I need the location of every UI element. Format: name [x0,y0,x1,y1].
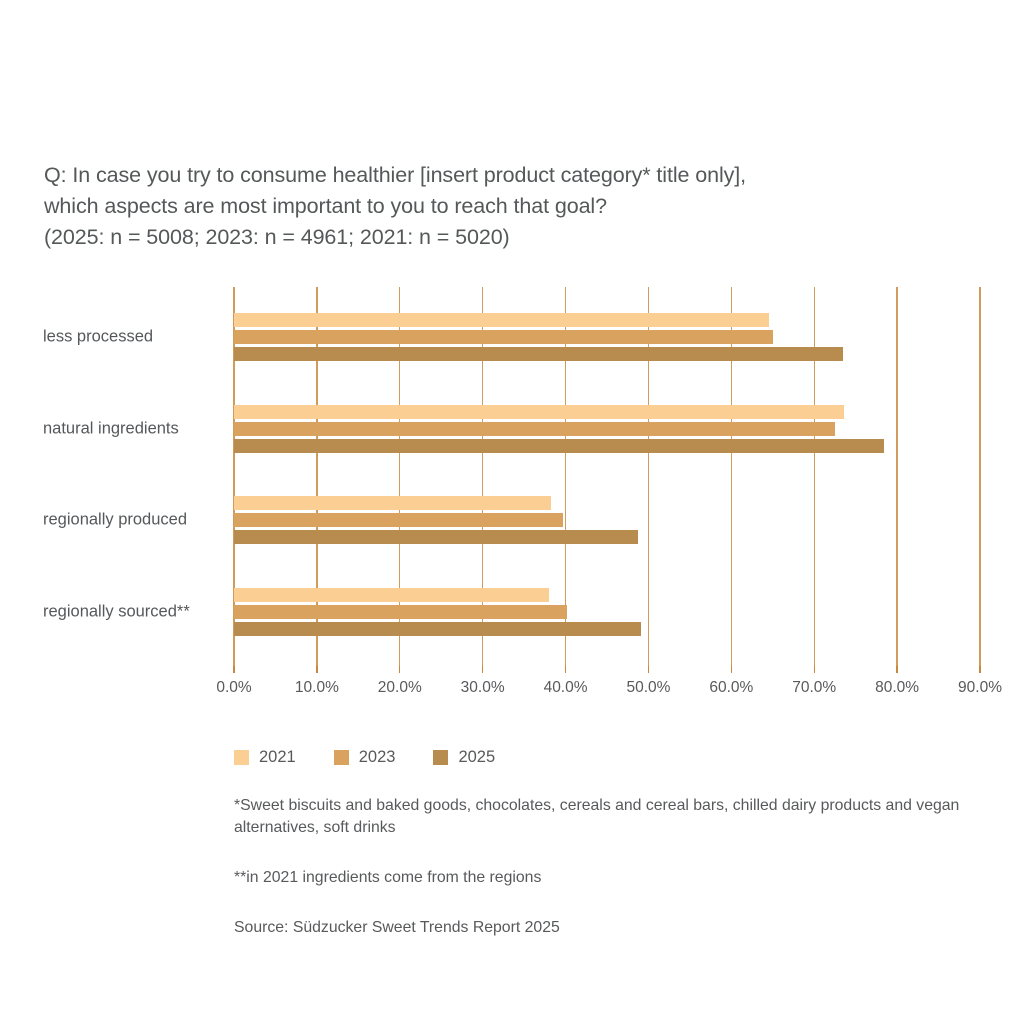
x-axis-tick [979,666,980,673]
x-axis-tick-label: 70.0% [792,679,836,697]
x-axis-tick [896,666,897,673]
bar-less-processed-2023 [234,330,773,344]
plot-area: 0.0%10.0%20.0%30.0%40.0%50.0%60.0%70.0%8… [234,287,980,666]
x-axis-tick [316,666,317,673]
bar-regionally-sourced---2023 [234,605,567,619]
x-axis-tick-label: 30.0% [461,679,505,697]
legend-item-2021[interactable]: 2021 [234,748,296,767]
legend-swatch-icon [234,750,249,765]
bar-regionally-sourced---2025 [234,622,641,636]
x-axis-tick-label: 40.0% [544,679,588,697]
footnotes-block: *Sweet biscuits and baked goods, chocola… [234,795,1009,939]
legend-label: 2023 [359,748,396,767]
footnote-regions: **in 2021 ingredients come from the regi… [234,867,1009,889]
x-axis-tick-label: 20.0% [378,679,422,697]
legend-item-2023[interactable]: 2023 [334,748,396,767]
bar-natural-ingredients-2023 [234,422,835,436]
category-label-less-processed: less processed [43,328,153,347]
gridline-900 [979,287,980,666]
category-axis-labels: less processednatural ingredientsregiona… [43,287,228,666]
bar-regionally-produced-2023 [234,513,563,527]
x-axis-tick-label: 50.0% [626,679,670,697]
category-label-regionally-sourced--: regionally sourced** [43,602,190,621]
bar-natural-ingredients-2025 [234,439,884,453]
legend-item-2025[interactable]: 2025 [433,748,495,767]
legend-label: 2021 [259,748,296,767]
bar-natural-ingredients-2021 [234,405,844,419]
x-axis-tick-label: 90.0% [958,679,1002,697]
bar-regionally-sourced---2021 [234,588,549,602]
x-axis-tick [648,666,649,673]
gridline-800 [896,287,897,666]
x-axis-tick-label: 10.0% [295,679,339,697]
category-label-natural-ingredients: natural ingredients [43,419,179,438]
x-axis-tick-label: 80.0% [875,679,919,697]
footnote-product-categories: *Sweet biscuits and baked goods, chocola… [234,795,1009,839]
bar-regionally-produced-2021 [234,496,551,510]
x-axis-tick [233,666,234,673]
x-axis-tick-label: 0.0% [216,679,251,697]
x-axis-tick [399,666,400,673]
x-axis-tick [482,666,483,673]
legend-swatch-icon [334,750,349,765]
gridline-700 [814,287,815,666]
bar-regionally-produced-2025 [234,530,638,544]
chart-legend: 202120232025 [234,748,533,767]
source-note: Source: Südzucker Sweet Trends Report 20… [234,917,1009,939]
bar-less-processed-2025 [234,347,843,361]
legend-label: 2025 [458,748,495,767]
x-axis-tick [565,666,566,673]
x-axis-tick [731,666,732,673]
x-axis-tick-label: 60.0% [709,679,753,697]
bar-less-processed-2021 [234,313,769,327]
category-label-regionally-produced: regionally produced [43,511,187,530]
legend-swatch-icon [433,750,448,765]
x-axis-tick [814,666,815,673]
